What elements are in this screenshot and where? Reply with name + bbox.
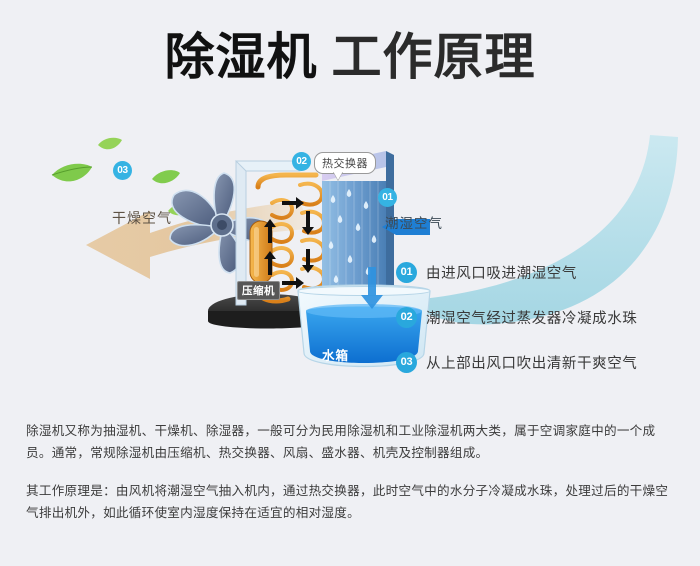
legend-badge-01: 01 [396, 262, 417, 283]
legend-label-01: 由进风口吸进潮湿空气 [426, 262, 577, 283]
callout-pointer-icon [333, 171, 343, 180]
diagram-badge-02: 02 [292, 152, 311, 171]
legend-item-03: 03 从上部出风口吹出清新干爽空气 [396, 345, 686, 379]
leaf-icon [98, 138, 122, 150]
diagram-badge-01: 01 [378, 188, 397, 207]
legend-label-03: 从上部出风口吹出清新干爽空气 [426, 352, 637, 373]
description-paragraph-2: 其工作原理是：由风机将潮湿空气抽入机内，通过热交换器，此时空气中的水分子冷凝成水… [26, 480, 678, 524]
legend-item-02: 02 潮湿空气经过蒸发器冷凝成水珠 [396, 300, 686, 334]
title-part-2: 工作原理 [332, 29, 536, 85]
legend-list: 01 由进风口吸进潮湿空气 02 潮湿空气经过蒸发器冷凝成水珠 03 从上部出风… [396, 255, 686, 390]
diagram-badge-03: 03 [113, 161, 132, 180]
description-paragraph-1: 除湿机又称为抽湿机、干燥机、除湿器，一般可分为民用除湿机和工业除湿机两大类，属于… [26, 420, 678, 464]
compressor-label: 压缩机 [237, 281, 280, 300]
title-part-1: 除湿机 [165, 29, 318, 85]
legend-label-02: 潮湿空气经过蒸发器冷凝成水珠 [426, 307, 637, 328]
legend-badge-03: 03 [396, 352, 417, 373]
description-block: 除湿机又称为抽湿机、干燥机、除湿器，一般可分为民用除湿机和工业除湿机两大类，属于… [26, 420, 678, 524]
humid-air-label: 潮湿空气 [385, 212, 443, 232]
dry-air-label: 干燥空气 [112, 208, 172, 228]
page-title: 除湿机工作原理 [0, 28, 700, 87]
leaf-icon [52, 164, 92, 182]
water-tank-label: 水箱 [322, 345, 349, 364]
heat-exchanger-callout: 热交换器 [314, 152, 376, 174]
leaf-icon [152, 170, 180, 183]
legend-item-01: 01 由进风口吸进潮湿空气 [396, 255, 686, 289]
infographic-page: 除湿机工作原理 [0, 0, 700, 566]
legend-badge-02: 02 [396, 307, 417, 328]
title-text: 除湿机工作原理 [165, 28, 536, 87]
